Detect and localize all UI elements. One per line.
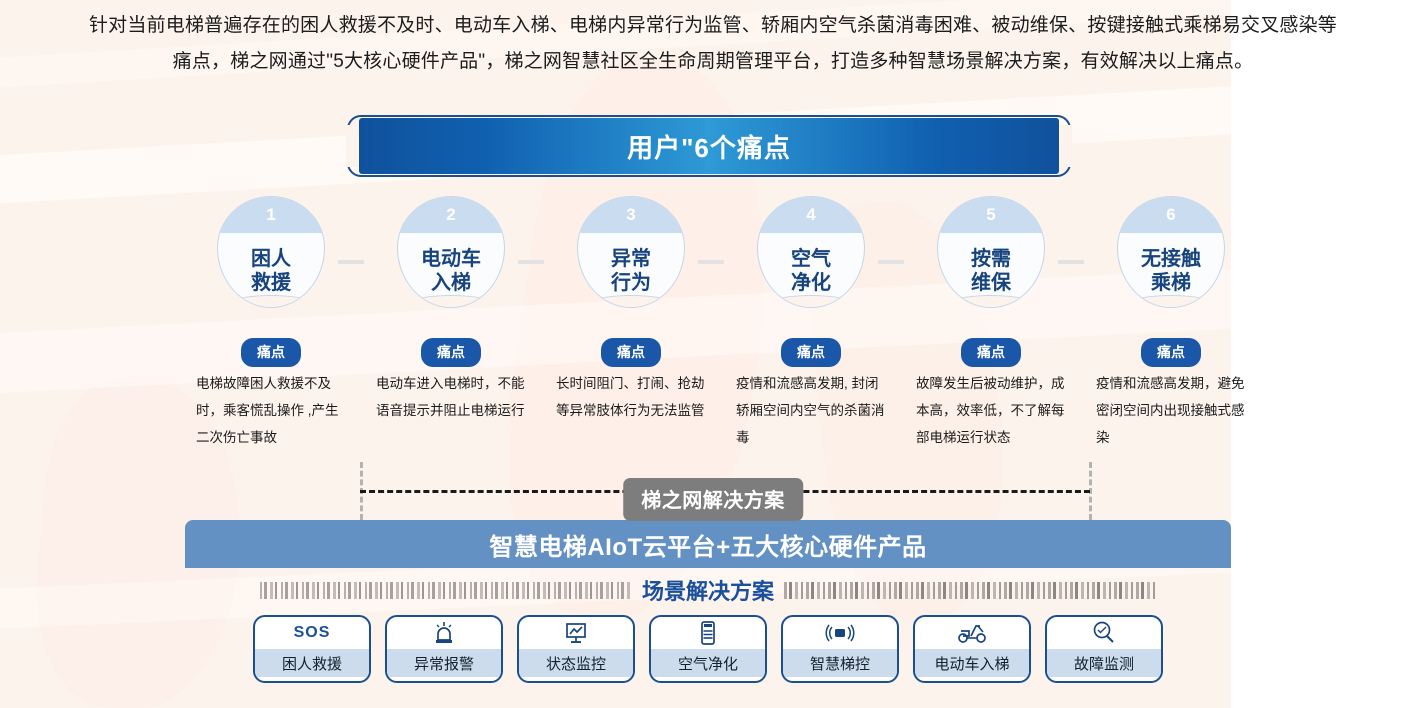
pain-text-6: 疫情和流感高发期，避免密闭空间内出现接触式感染 [1096, 370, 1246, 451]
scene-card-sos[interactable]: SOS 困人救援 [253, 615, 371, 683]
pain-text-5: 故障发生后被动维护，成本高，效率低，不了解每部电梯运行状态 [916, 370, 1066, 451]
pain-number-5: 5 [986, 205, 995, 225]
scene-card-label: 空气净化 [651, 649, 765, 677]
pain-title-line2: 入梯 [431, 271, 471, 295]
pain-badge-4: 痛点 [781, 338, 841, 367]
pain-title-line1: 无接触 [1141, 247, 1201, 271]
air-purifier-icon [651, 617, 765, 649]
intro-line-1: 针对当前电梯普遍存在的困人救援不及时、电动车入梯、电梯内异常行为监管、轿厢内空气… [0, 8, 1426, 44]
scene-heading-row: 场景解决方案 [185, 575, 1231, 605]
scene-card-scooter[interactable]: 电动车入梯 [913, 615, 1031, 683]
pain-point-columns: 1 困人 救援 痛点 电梯故障困人救援不及时，乘客慌乱操作 ,产生二次伤亡事故 … [0, 196, 1231, 466]
pain-number-3: 3 [626, 205, 635, 225]
pain-title-line2: 净化 [791, 271, 831, 295]
pain-title-line2: 维保 [971, 271, 1011, 295]
scene-card-label: 异常报警 [387, 649, 501, 677]
intro-paragraph: 针对当前电梯普遍存在的困人救援不及时、电动车入梯、电梯内异常行为监管、轿厢内空气… [0, 8, 1426, 80]
pain-text-3: 长时间阻门、打闹、抢劫等异常肢体行为无法监管 [556, 370, 706, 424]
banner-notch-right [1060, 125, 1072, 167]
pain-number-band-1: 1 [218, 197, 324, 233]
pain-number-band-4: 4 [758, 197, 864, 233]
scene-card-fault-detect[interactable]: 故障监测 [1045, 615, 1163, 683]
pain-number-4: 4 [806, 205, 815, 225]
pain-text-4: 疫情和流感高发期, 封闭轿厢空间内空气的杀菌消毒 [736, 370, 886, 451]
scene-card-label: 状态监控 [519, 649, 633, 677]
alarm-siren-icon [387, 617, 501, 649]
pain-title-line1: 按需 [971, 247, 1011, 271]
pain-title-line2: 救援 [251, 271, 291, 295]
pain-number-6: 6 [1166, 205, 1175, 225]
pain-shield-4: 4 空气 净化 [757, 196, 865, 308]
scene-card-label: 故障监测 [1047, 649, 1161, 677]
sos-text-icon: SOS [255, 617, 369, 649]
pain-number-band-2: 2 [398, 197, 504, 233]
scene-card-air[interactable]: 空气净化 [649, 615, 767, 683]
pain-text-1: 电梯故障困人救援不及时，乘客慌乱操作 ,产生二次伤亡事故 [196, 370, 346, 451]
pain-point-card-3[interactable]: 3 异常 行为 痛点 长时间阻门、打闹、抢劫等异常肢体行为无法监管 [550, 196, 712, 308]
pain-title-line1: 异常 [611, 247, 651, 271]
platform-bar: 智慧电梯AIoT云平台+五大核心硬件产品 [185, 520, 1231, 568]
connector-dash-5-6 [1058, 260, 1084, 264]
pain-title-line2: 行为 [611, 271, 651, 295]
pain-title-line1: 困人 [251, 247, 291, 271]
monitor-chart-icon [519, 617, 633, 649]
connector-dash-3-4 [698, 260, 724, 264]
platform-bar-label: 智慧电梯AIoT云平台+五大核心硬件产品 [489, 527, 926, 562]
pain-badge-1: 痛点 [241, 338, 301, 367]
connector-dash-1-2 [338, 260, 364, 264]
pain-title-line2: 乘梯 [1151, 271, 1191, 295]
scene-card-label: 智慧梯控 [783, 649, 897, 677]
scooter-icon [915, 617, 1029, 649]
pain-title-line1: 电动车 [421, 247, 481, 271]
pain-shield-6: 6 无接触 乘梯 [1117, 196, 1225, 308]
pain-point-card-6[interactable]: 6 无接触 乘梯 痛点 疫情和流感高发期，避免密闭空间内出现接触式感染 [1090, 196, 1252, 308]
banner-frame [347, 115, 1071, 177]
pain-text-2: 电动车进入电梯时，不能语音提示并阻止电梯运行 [376, 370, 526, 424]
scene-card-label: 电动车入梯 [915, 649, 1029, 677]
scene-card-label: 困人救援 [255, 649, 369, 677]
connector-dash-4-5 [878, 260, 904, 264]
pain-point-card-4[interactable]: 4 空气 净化 痛点 疫情和流感高发期, 封闭轿厢空间内空气的杀菌消毒 [730, 196, 892, 308]
pain-number-1: 1 [266, 205, 275, 225]
pain-badge-5: 痛点 [961, 338, 1021, 367]
banner-notch-left [346, 125, 358, 167]
scene-card-alarm[interactable]: 异常报警 [385, 615, 503, 683]
section-banner: 用户"6个痛点 [347, 115, 1071, 177]
solution-tag: 梯之网解决方案 [623, 478, 803, 521]
pain-shield-1: 1 困人 救援 [217, 196, 325, 308]
barcode-decoration-left [260, 582, 632, 599]
intro-line-2: 痛点，梯之网通过"5大核心硬件产品"，梯之网智慧社区全生命周期管理平台，打造多种… [0, 44, 1426, 80]
wireless-control-icon [783, 617, 897, 649]
pain-number-band-5: 5 [938, 197, 1044, 233]
pain-shield-2: 2 电动车 入梯 [397, 196, 505, 308]
pain-shield-5: 5 按需 维保 [937, 196, 1045, 308]
magnifier-detect-icon [1047, 617, 1161, 649]
scene-cards-row: SOS 困人救援 异常报警 状态监控 [185, 615, 1231, 687]
pain-point-card-2[interactable]: 2 电动车 入梯 痛点 电动车进入电梯时，不能语音提示并阻止电梯运行 [370, 196, 532, 308]
connector-dash-2-3 [518, 260, 544, 264]
pain-number-2: 2 [446, 205, 455, 225]
barcode-decoration-right [784, 582, 1156, 599]
pain-number-band-3: 3 [578, 197, 684, 233]
pain-badge-6: 痛点 [1141, 338, 1201, 367]
pain-shield-3: 3 异常 行为 [577, 196, 685, 308]
pain-number-band-6: 6 [1118, 197, 1224, 233]
scene-card-monitor[interactable]: 状态监控 [517, 615, 635, 683]
pain-badge-3: 痛点 [601, 338, 661, 367]
sos-icon-label: SOS [294, 624, 331, 642]
scene-title: 场景解决方案 [642, 574, 774, 606]
pain-point-card-5[interactable]: 5 按需 维保 痛点 故障发生后被动维护，成本高，效率低，不了解每部电梯运行状态 [910, 196, 1072, 308]
pain-title-line1: 空气 [791, 247, 831, 271]
scene-card-smart-control[interactable]: 智慧梯控 [781, 615, 899, 683]
pain-point-card-1[interactable]: 1 困人 救援 痛点 电梯故障困人救援不及时，乘客慌乱操作 ,产生二次伤亡事故 [190, 196, 352, 308]
pain-badge-2: 痛点 [421, 338, 481, 367]
